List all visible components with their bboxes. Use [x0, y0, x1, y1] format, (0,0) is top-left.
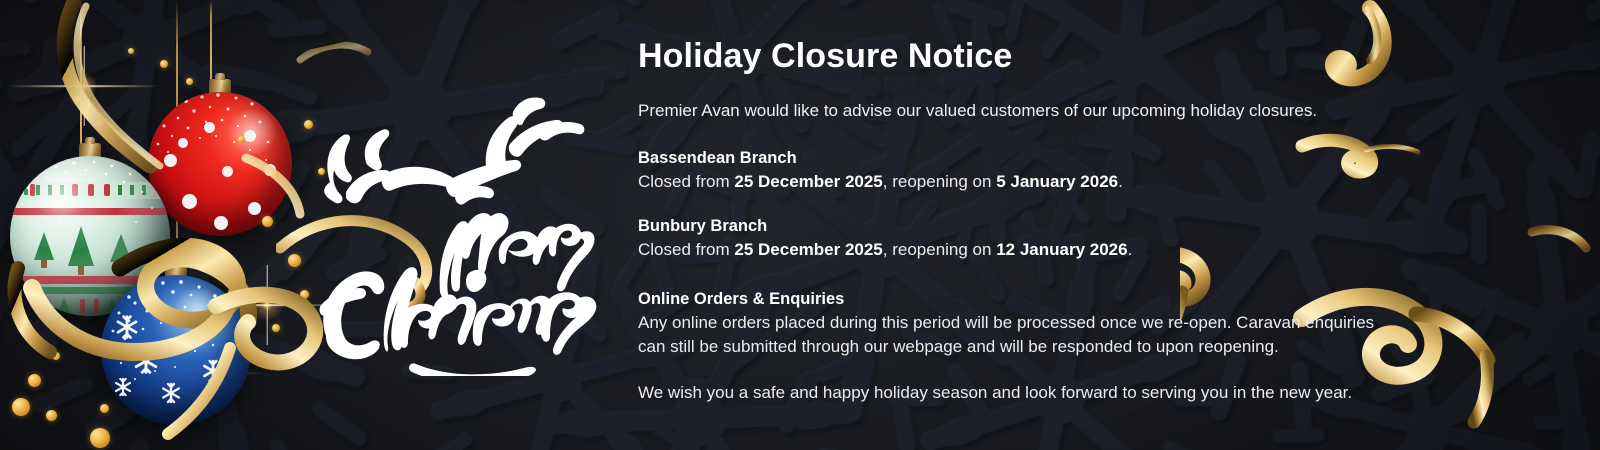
merry-christmas-lettering — [288, 96, 598, 376]
branch-section-bunbury: Bunbury Branch Closed from 25 December 2… — [638, 216, 1548, 262]
reopening-date: 5 January 2026 — [996, 172, 1118, 191]
intro-text: Premier Avan would like to advise our va… — [638, 100, 1317, 123]
reopening-label: , reopening on — [883, 172, 996, 191]
branch-section-bassendean: Bassendean Branch Closed from 25 Decembe… — [638, 148, 1548, 194]
branch-closure-detail: Closed from 25 December 2025, reopening … — [638, 170, 1548, 193]
closure-start-date: 25 December 2025 — [734, 172, 882, 191]
online-orders-section: Online Orders & Enquiries Any online ord… — [638, 289, 1548, 358]
page-title: Holiday Closure Notice — [638, 38, 1012, 75]
merry-word — [440, 213, 595, 299]
closed-from-label: Closed from — [638, 240, 734, 259]
branch-heading: Bunbury Branch — [638, 216, 1548, 237]
branch-closure-detail: Closed from 25 December 2025, reopening … — [638, 238, 1548, 261]
reindeer-antlers-icon — [324, 98, 584, 205]
holiday-closure-banner: Holiday Closure Notice Premier Avan woul… — [0, 0, 1600, 450]
branch-heading: Bassendean Branch — [638, 148, 1548, 169]
reopening-label: , reopening on — [883, 240, 996, 259]
notice-content: Holiday Closure Notice Premier Avan woul… — [638, 0, 1568, 450]
closing-message: We wish you a safe and happy holiday sea… — [638, 381, 1352, 404]
online-orders-line-1: Any online orders placed during this per… — [638, 311, 1548, 334]
sentence-end: . — [1128, 240, 1133, 259]
online-orders-heading: Online Orders & Enquiries — [638, 289, 1548, 310]
sentence-end: . — [1118, 172, 1123, 191]
online-orders-line-2: can still be submitted through our webpa… — [638, 335, 1548, 358]
closure-start-date: 25 December 2025 — [734, 240, 882, 259]
closed-from-label: Closed from — [638, 172, 734, 191]
reopening-date: 12 January 2026 — [996, 240, 1127, 259]
